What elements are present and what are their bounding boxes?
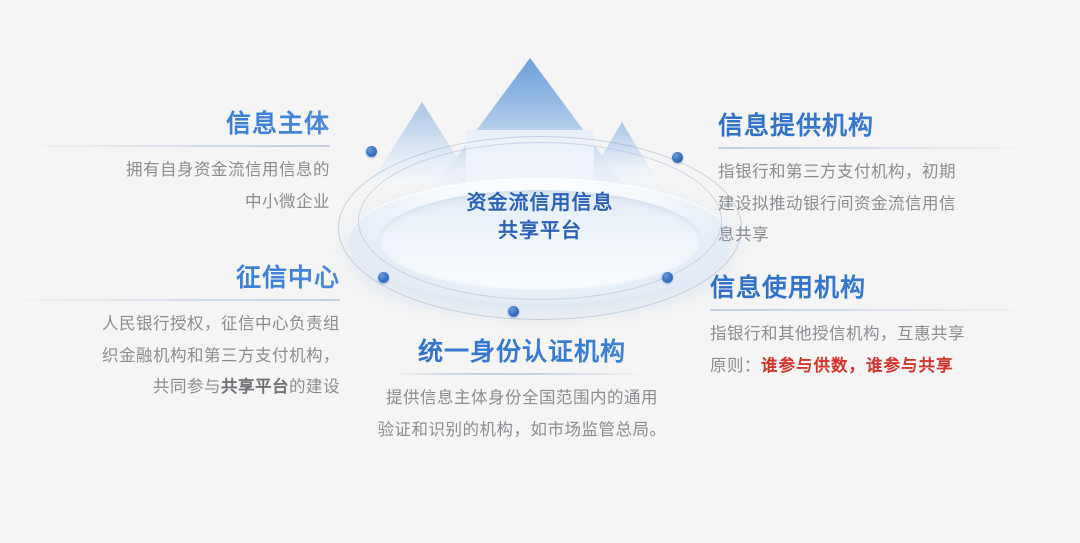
block-credit-body: 人民银行授权，征信中心负责组 织金融机构和第三方支付机构， 共同参与共享平台的建… [0,308,340,403]
block-credit-heading: 征信中心 [0,258,340,294]
block-information-subject: 信息主体 拥有自身资金流信用信息的 中小微企业 [10,104,330,217]
center-platform-graphic: 资金流信用信息 共享平台 [330,30,750,340]
block-subject-body-line-1: 拥有自身资金流信用信息的 [10,154,330,186]
block-identity-heading: 统一身份认证机构 [336,332,708,368]
block-subject-heading: 信息主体 [10,104,330,140]
block-credit-line3-bold: 共享平台 [221,377,289,396]
block-unified-identity-authority: 统一身份认证机构 提供信息主体身份全国范围内的通用 验证和识别的机构，如市场监管… [336,332,708,445]
block-credit-line3-pre: 共同参与 [153,377,221,396]
block-provider-divider [718,147,1036,149]
block-credit-body-line-1: 人民银行授权，征信中心负责组 [0,308,340,340]
block-provider-heading: 信息提供机构 [718,106,1036,142]
block-user-body-line-1: 指银行和其他授信机构，互惠共享 [710,318,1046,350]
block-credit-body-line-2: 织金融机构和第三方支付机构， [0,340,340,372]
block-credit-divider [0,299,340,301]
orbit-node-top-right [672,152,683,163]
center-label-line-2: 共享平台 [330,218,750,246]
block-credit-body-line-3: 共同参与共享平台的建设 [0,371,340,403]
orbit-node-bottom-right [662,272,673,283]
infographic-canvas: 资金流信用信息 共享平台 信息主体 拥有自身资金流信用信息的 中小微企业 征信中… [0,0,1080,543]
block-identity-body-line-2: 验证和识别的机构，如市场监管总局。 [336,414,708,446]
block-provider-body: 指银行和第三方支付机构，初期 建设拟推动银行间资金流信用信 息共享 [718,156,1036,251]
orbit-node-top-left [366,146,377,157]
block-subject-body-line-2: 中小微企业 [10,186,330,218]
block-identity-body: 提供信息主体身份全国范围内的通用 验证和识别的机构，如市场监管总局。 [336,382,708,445]
block-identity-body-line-1: 提供信息主体身份全国范围内的通用 [336,382,708,414]
block-provider-body-line-1: 指银行和第三方支付机构，初期 [718,156,1036,188]
block-user-divider [710,309,1046,311]
block-credit-line3-post: 的建设 [289,377,340,396]
block-identity-divider [392,373,652,375]
block-user-body: 指银行和其他授信机构，互惠共享 原则：谁参与供数，谁参与共享 [710,318,1046,381]
center-platform-label: 资金流信用信息 共享平台 [330,190,750,245]
block-credit-reference-center: 征信中心 人民银行授权，征信中心负责组 织金融机构和第三方支付机构， 共同参与共… [0,258,340,403]
block-user-heading: 信息使用机构 [710,268,1046,304]
orbit-node-bottom-left [378,272,389,283]
block-provider-body-line-3: 息共享 [718,219,1036,251]
block-user-body-line-2: 原则：谁参与供数，谁参与共享 [710,350,1046,382]
block-subject-divider [10,145,330,147]
block-user-line2-highlight: 谁参与供数，谁参与共享 [761,356,954,375]
block-provider-body-line-2: 建设拟推动银行间资金流信用信 [718,188,1036,220]
block-user-line2-pre: 原则： [710,356,761,375]
orbit-node-bottom [508,306,519,317]
block-subject-body: 拥有自身资金流信用信息的 中小微企业 [10,154,330,217]
center-label-line-1: 资金流信用信息 [330,190,750,218]
block-information-user: 信息使用机构 指银行和其他授信机构，互惠共享 原则：谁参与供数，谁参与共享 [710,268,1046,381]
block-information-provider: 信息提供机构 指银行和第三方支付机构，初期 建设拟推动银行间资金流信用信 息共享 [718,106,1036,251]
